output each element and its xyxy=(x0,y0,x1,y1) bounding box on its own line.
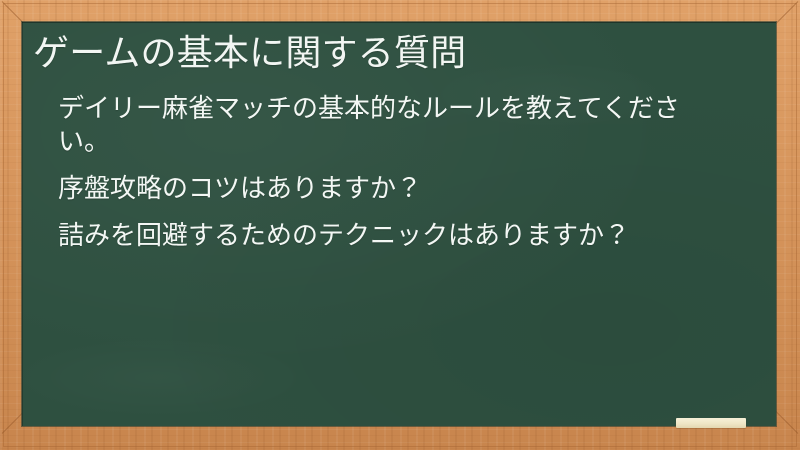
chalkboard-slide: ゲームの基本に関する質問 デイリー麻雀マッチの基本的なルールを教えてください。 … xyxy=(0,0,800,450)
list-item: デイリー麻雀マッチの基本的なルールを教えてください。 xyxy=(33,93,730,159)
chalkboard-surface: ゲームの基本に関する質問 デイリー麻雀マッチの基本的なルールを教えてください。 … xyxy=(22,22,776,426)
board-content: ゲームの基本に関する質問 デイリー麻雀マッチの基本的なルールを教えてください。 … xyxy=(22,22,776,426)
question-list: デイリー麻雀マッチの基本的なルールを教えてください。 序盤攻略のコツはありますか… xyxy=(33,93,756,253)
chalk-icon xyxy=(676,418,746,428)
list-item: 詰みを回避するためのテクニックはありますか？ xyxy=(33,220,730,253)
page-title: ゲームの基本に関する質問 xyxy=(33,31,756,77)
list-item: 序盤攻略のコツはありますか？ xyxy=(33,173,730,206)
